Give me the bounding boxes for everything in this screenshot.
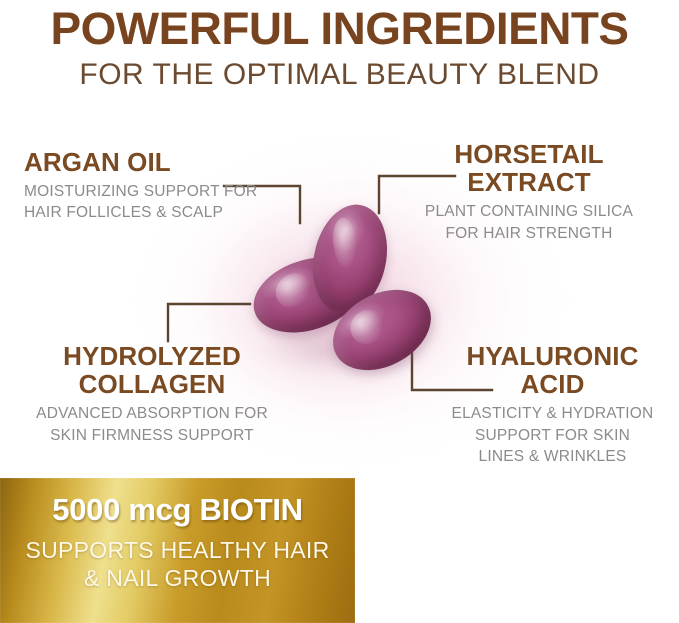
callout-horsetail-title-line1: HORSETAIL [400, 140, 658, 168]
callout-argan-description: MOISTURIZING SUPPORT FOR HAIR FOLLICLES … [24, 181, 257, 224]
biotin-headline: 5000 mcg BIOTIN [0, 494, 355, 525]
biotin-subtext-line2: & NAIL GROWTH [0, 564, 355, 592]
callout-hydrolyzed-collagen: HYDROLYZED COLLAGEN ADVANCED ABSORPTION … [18, 342, 286, 446]
callout-horsetail-title-line2: EXTRACT [400, 168, 658, 196]
callout-collagen-title-line2: COLLAGEN [18, 370, 286, 398]
biotin-banner-content: 5000 mcg BIOTIN SUPPORTS HEALTHY HAIR & … [0, 478, 355, 623]
callout-argan-oil: ARGAN OIL MOISTURIZING SUPPORT FOR HAIR … [24, 148, 257, 224]
callout-hyaluronic-description: ELASTICITY & HYDRATION SUPPORT FOR SKIN … [430, 403, 675, 467]
header: POWERFUL INGREDIENTS FOR THE OPTIMAL BEA… [0, 0, 679, 91]
callout-collagen-title: HYDROLYZED COLLAGEN [18, 342, 286, 398]
callout-hyaluronic-desc-line3: LINES & WRINKLES [430, 446, 675, 467]
biotin-subtext-line1: SUPPORTS HEALTHY HAIR [0, 536, 355, 564]
callout-argan-title: ARGAN OIL [24, 148, 257, 176]
biotin-banner: 5000 mcg BIOTIN SUPPORTS HEALTHY HAIR & … [0, 478, 355, 623]
ingredients-infographic: POWERFUL INGREDIENTS FOR THE OPTIMAL BEA… [0, 0, 679, 623]
callout-horsetail-extract: HORSETAIL EXTRACT PLANT CONTAINING SILIC… [400, 140, 658, 244]
callout-collagen-desc-line1: ADVANCED ABSORPTION FOR [18, 403, 286, 424]
callout-argan-desc-line2: HAIR FOLLICLES & SCALP [24, 202, 257, 223]
callout-horsetail-description: PLANT CONTAINING SILICA FOR HAIR STRENGT… [400, 201, 658, 244]
biotin-subtext: SUPPORTS HEALTHY HAIR & NAIL GROWTH [0, 536, 355, 592]
callout-hyaluronic-acid: HYALURONIC ACID ELASTICITY & HYDRATION S… [430, 342, 675, 467]
callout-collagen-title-line1: HYDROLYZED [18, 342, 286, 370]
callout-hyaluronic-title-line1: HYALURONIC [430, 342, 675, 370]
page-subtitle: FOR THE OPTIMAL BEAUTY BLEND [0, 58, 679, 91]
page-title: POWERFUL INGREDIENTS [0, 6, 679, 51]
callout-collagen-desc-line2: SKIN FIRMNESS SUPPORT [18, 425, 286, 446]
callout-argan-desc-line1: MOISTURIZING SUPPORT FOR [24, 181, 257, 202]
callout-hyaluronic-desc-line1: ELASTICITY & HYDRATION [430, 403, 675, 424]
callout-hyaluronic-title-line2: ACID [430, 370, 675, 398]
callout-collagen-description: ADVANCED ABSORPTION FOR SKIN FIRMNESS SU… [18, 403, 286, 446]
connector-collagen [168, 304, 250, 341]
callout-hyaluronic-title: HYALURONIC ACID [430, 342, 675, 398]
callout-horsetail-title: HORSETAIL EXTRACT [400, 140, 658, 196]
callout-horsetail-desc-line2: FOR HAIR STRENGTH [400, 223, 658, 244]
callout-horsetail-desc-line1: PLANT CONTAINING SILICA [400, 201, 658, 222]
callout-hyaluronic-desc-line2: SUPPORT FOR SKIN [430, 425, 675, 446]
